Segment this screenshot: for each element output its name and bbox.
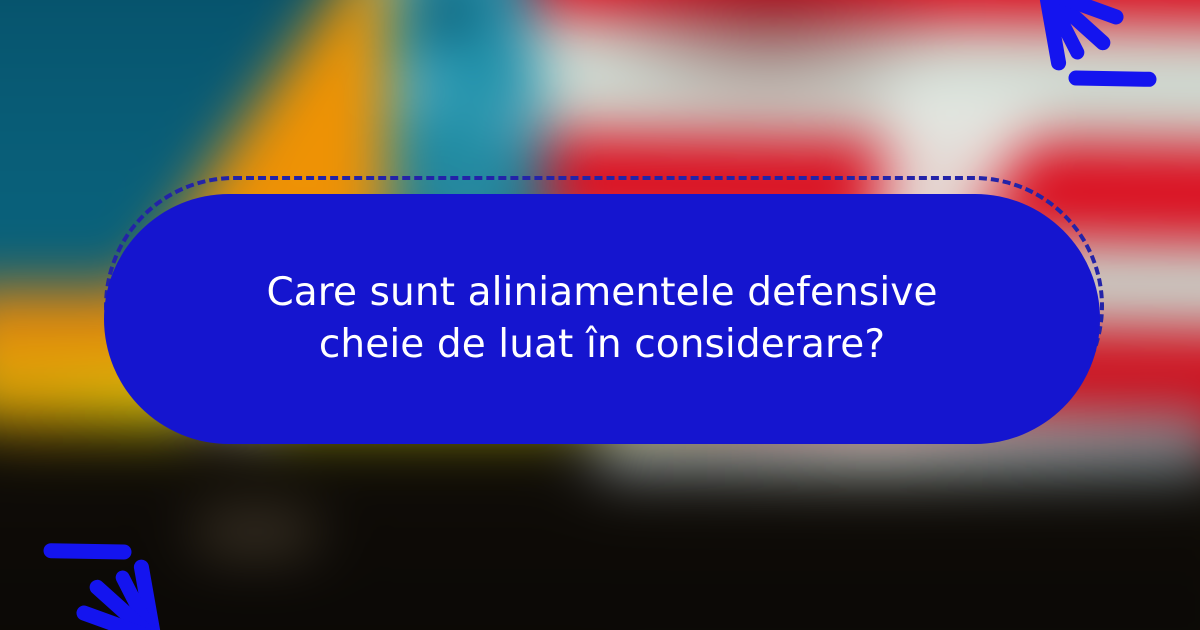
starburst-ray (1068, 70, 1156, 87)
social-card-stage: Care sunt aliniamentele defensive cheie … (0, 0, 1200, 630)
question-card: Care sunt aliniamentele defensive cheie … (104, 194, 1100, 444)
question-text: Care sunt aliniamentele defensive cheie … (222, 267, 982, 371)
starburst-ray (43, 543, 131, 560)
background-dark-foreground (0, 469, 1200, 630)
background-smudge (197, 511, 314, 553)
